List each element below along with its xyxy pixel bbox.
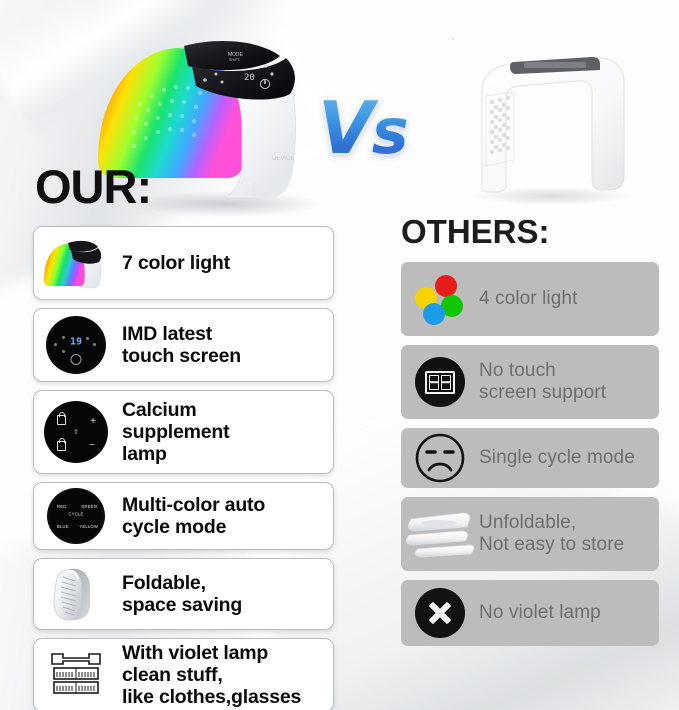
- our-feature-label: Multi-color auto cycle mode: [118, 494, 271, 538]
- others-feature-list: 4 color light No touch screen support Si…: [401, 262, 659, 655]
- four-color-dots-icon: [401, 271, 479, 327]
- dot-blue: [423, 303, 445, 325]
- our-feature-label: 7 color light: [118, 252, 236, 274]
- calcium-dial-icon: + − ☿: [34, 391, 118, 473]
- other-feature-row-no-violet-lamp[interactable]: No violet lamp: [401, 580, 659, 646]
- power-glyph: [71, 354, 82, 365]
- other-feature-row-no-touch-screen[interactable]: No touch screen support: [401, 345, 659, 419]
- svg-text:DEVICE: DEVICE: [272, 156, 294, 162]
- our-feature-list: 7 color light 19 IMD latest touch screen: [33, 226, 334, 710]
- our-feature-row-7-color-light[interactable]: 7 color light: [33, 226, 334, 300]
- dot-red: [435, 275, 457, 297]
- seven-segment-digits: [425, 371, 455, 394]
- other-feature-label: Single cycle mode: [479, 447, 635, 469]
- cycle-label-green: GREEN: [81, 504, 97, 509]
- our-feature-row-calcium-lamp[interactable]: + − ☿ Calcium supplement lamp: [33, 390, 334, 474]
- cycle-label-red: RED: [57, 504, 66, 509]
- sad-face-icon: [401, 430, 479, 486]
- other-feature-label: 4 color light: [479, 288, 577, 310]
- cycle-dial-icon: RED GREEN BLUE YELLOW CYCLE: [34, 483, 118, 549]
- our-feature-label: With violet lamp clean stuff, like cloth…: [118, 642, 307, 709]
- our-feature-label: Foldable, space saving: [118, 572, 248, 616]
- cycle-dial-face: RED GREEN BLUE YELLOW CYCLE: [47, 488, 105, 544]
- stacked-panels-icon: [401, 507, 479, 561]
- svg-text:20: 20: [244, 73, 255, 83]
- seven-segment-circle: [415, 357, 465, 407]
- versus-badge: Vs: [318, 82, 428, 174]
- cycle-label-blue: BLUE: [57, 524, 69, 529]
- cycle-label-center: CYCLE: [69, 512, 84, 517]
- other-feature-row-4-color-light[interactable]: 4 color light: [401, 262, 659, 336]
- seven-segment-display-icon: [401, 357, 479, 407]
- x-circle-glyph: [415, 588, 465, 638]
- our-feature-label: IMD latest touch screen: [118, 323, 247, 367]
- touch-dial-icon: 19: [34, 309, 118, 381]
- versus-letter-s: s: [372, 95, 407, 168]
- calcium-dial-face: + − ☿: [44, 401, 108, 463]
- other-feature-label: No violet lamp: [479, 602, 601, 624]
- svg-text:SHIFT: SHIFT: [229, 58, 240, 62]
- cycle-label-yellow: YELLOW: [79, 524, 98, 529]
- infographic-canvas: MODE SHIFT 20 DEVICE Vs: [0, 0, 679, 710]
- other-product-hero-image: [452, 38, 652, 208]
- rainbow-lamp-icon: [34, 227, 118, 299]
- touch-dial-display-value: 19: [70, 336, 82, 347]
- our-feature-label: Calcium supplement lamp: [118, 399, 235, 466]
- other-feature-label: No touch screen support: [479, 360, 606, 404]
- others-section-title: OTHERS:: [401, 215, 550, 248]
- versus-letter-v: V: [318, 86, 372, 170]
- our-feature-row-cycle-mode[interactable]: RED GREEN BLUE YELLOW CYCLE Multi-color …: [33, 482, 334, 550]
- violet-lamp-rack-icon: [34, 639, 118, 710]
- touch-dial-face: 19: [46, 316, 106, 374]
- other-feature-label: Unfoldable, Not easy to store: [479, 512, 624, 556]
- our-feature-row-touch-screen[interactable]: 19 IMD latest touch screen: [33, 308, 334, 382]
- our-section-title: OUR:: [35, 163, 151, 210]
- folded-device-icon: [34, 559, 118, 629]
- x-circle-icon: [401, 588, 479, 638]
- our-feature-row-violet-lamp[interactable]: With violet lamp clean stuff, like cloth…: [33, 638, 334, 710]
- our-feature-row-foldable[interactable]: Foldable, space saving: [33, 558, 334, 630]
- other-feature-row-single-cycle[interactable]: Single cycle mode: [401, 428, 659, 488]
- other-feature-row-unfoldable[interactable]: Unfoldable, Not easy to store: [401, 497, 659, 571]
